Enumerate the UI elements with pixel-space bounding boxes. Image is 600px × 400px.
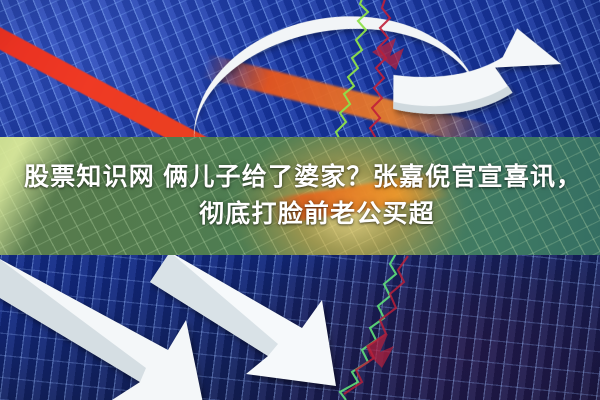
banner-image: 股票知识网 俩儿子给了婆家？张嘉倪官宣喜讯， 彻底打脸前老公买超 (0, 0, 600, 400)
vignette-overlay (0, 0, 600, 400)
